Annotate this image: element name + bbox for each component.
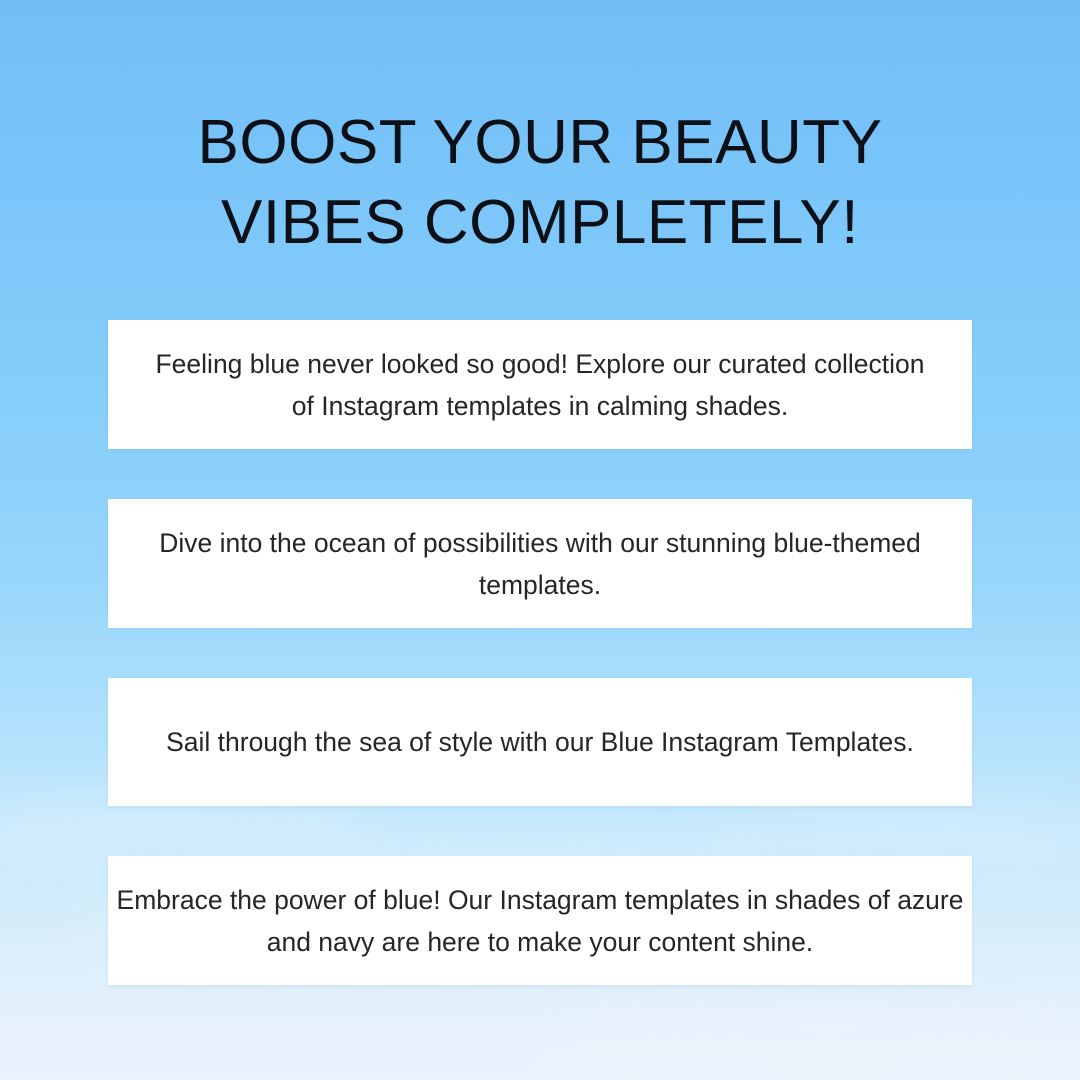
poster-content: BOOST YOUR BEAUTY VIBES COMPLETELY! Feel…: [0, 0, 1080, 1080]
message-card-text: Dive into the ocean of possibilities wit…: [130, 522, 950, 606]
message-card-text: Feeling blue never looked so good! Explo…: [130, 343, 950, 427]
page-title: BOOST YOUR BEAUTY VIBES COMPLETELY!: [90, 103, 990, 263]
message-card: Embrace the power of blue! Our Instagram…: [108, 856, 972, 985]
message-card: Dive into the ocean of possibilities wit…: [108, 499, 972, 628]
message-card-text: Embrace the power of blue! Our Instagram…: [110, 879, 970, 963]
message-card: Feeling blue never looked so good! Explo…: [108, 320, 972, 449]
message-card-list: Feeling blue never looked so good! Explo…: [108, 320, 972, 985]
poster-canvas: BOOST YOUR BEAUTY VIBES COMPLETELY! Feel…: [0, 0, 1080, 1080]
message-card: Sail through the sea of style with our B…: [108, 678, 972, 806]
message-card-text: Sail through the sea of style with our B…: [130, 721, 950, 763]
